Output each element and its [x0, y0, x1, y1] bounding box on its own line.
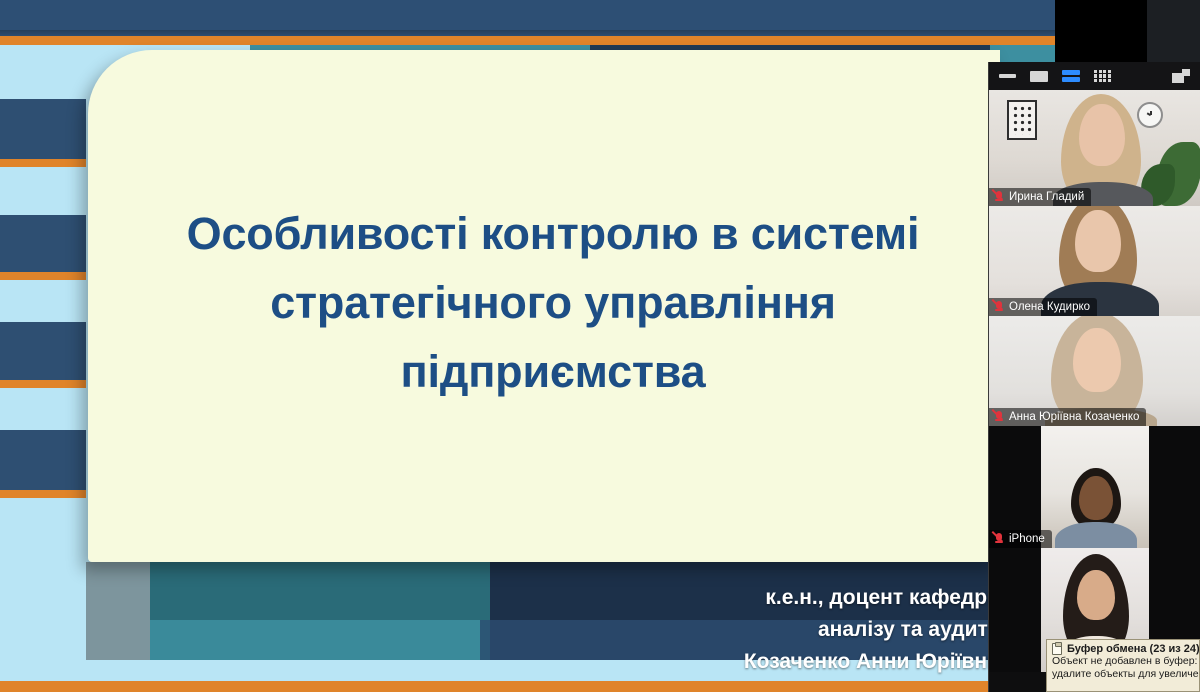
video-panel-toolbar — [989, 62, 1200, 90]
credit-line-1: к.е.н., доцент кафедри — [744, 582, 1000, 614]
participant-face — [1077, 570, 1115, 620]
participant-tile[interactable]: Олена Кудирко — [989, 206, 1200, 316]
decor-stripe-navy — [0, 430, 86, 490]
participant-face — [1079, 104, 1125, 166]
minimize-icon[interactable] — [999, 74, 1016, 78]
participant-face — [1073, 328, 1121, 392]
participant-tile[interactable]: Анна Юріївна Козаченко — [989, 316, 1200, 426]
participant-name: iPhone — [1009, 533, 1045, 545]
participant-face — [1075, 210, 1121, 272]
participant-torso — [1055, 522, 1137, 548]
slide-title: Особливості контролю в системі стратегіч… — [158, 200, 948, 407]
popout-icon[interactable] — [1172, 69, 1190, 83]
clipboard-notification[interactable]: Буфер обмена (23 из 24) Объект не добавл… — [1046, 639, 1200, 692]
participant-tile[interactable]: Ирина Гладий — [989, 90, 1200, 206]
strip-view-icon[interactable] — [1062, 70, 1080, 83]
participant-name: Олена Кудирко — [1009, 301, 1090, 313]
credit-line-2: аналізу та аудиту — [744, 614, 1000, 646]
black-region — [1055, 0, 1147, 62]
presentation-slide: Особливості контролю в системі стратегіч… — [0, 0, 1060, 692]
mic-muted-icon — [994, 300, 1004, 313]
clipboard-icon — [1052, 643, 1062, 655]
participant-face — [1079, 476, 1113, 520]
participant-name: Анна Юріївна Козаченко — [1009, 411, 1139, 423]
credit-line-3: Козаченко Анни Юріївни — [744, 646, 1000, 678]
clipboard-notification-line-1: Объект не добавлен в буфер: — [1052, 655, 1195, 668]
decor-stripe-orange — [0, 490, 86, 498]
decor-stripe-orange — [0, 159, 86, 167]
participant-namebar: Ирина Гладий — [989, 188, 1091, 206]
mic-muted-icon — [994, 532, 1004, 545]
wall-clock-decor — [1137, 102, 1163, 128]
participant-namebar: Анна Юріївна Козаченко — [989, 408, 1146, 426]
participant-name: Ирина Гладий — [1009, 191, 1084, 203]
decor-block-teal-light — [150, 620, 480, 660]
decor-bottom-orange-line — [0, 681, 1060, 692]
single-view-icon[interactable] — [1030, 71, 1048, 82]
grid-view-icon[interactable] — [1094, 70, 1111, 83]
mic-muted-icon — [994, 190, 1004, 203]
decor-stripe-navy — [0, 99, 86, 159]
decor-stripe-navy — [0, 322, 86, 380]
participant-tile[interactable]: iPhone — [989, 426, 1200, 548]
decor-top-orange-line — [0, 36, 1060, 45]
decor-stripe-navy — [0, 215, 86, 272]
clipboard-notification-line-2: удалите объекты для увеличен — [1052, 668, 1195, 681]
screen: Особливості контролю в системі стратегіч… — [0, 0, 1200, 692]
participant-video — [1041, 426, 1149, 548]
participant-namebar: iPhone — [989, 530, 1052, 548]
clipboard-notification-header: Буфер обмена (23 из 24) — [1052, 643, 1195, 655]
decor-stripe-orange — [0, 272, 86, 280]
mic-muted-icon — [994, 410, 1004, 423]
clipboard-notification-title: Буфер обмена (23 из 24) — [1067, 643, 1200, 655]
participant-namebar: Олена Кудирко — [989, 298, 1097, 316]
decor-block-gray — [86, 562, 150, 660]
video-conference-panel: Ирина Гладий Олена Кудирко — [988, 62, 1200, 692]
slide-title-card: Особливості контролю в системі стратегіч… — [88, 50, 1000, 562]
wall-picture-decor — [1007, 100, 1037, 140]
decor-stripe-orange — [0, 380, 86, 388]
presenter-credit: к.е.н., доцент кафедри аналізу та аудиту… — [744, 582, 1000, 678]
